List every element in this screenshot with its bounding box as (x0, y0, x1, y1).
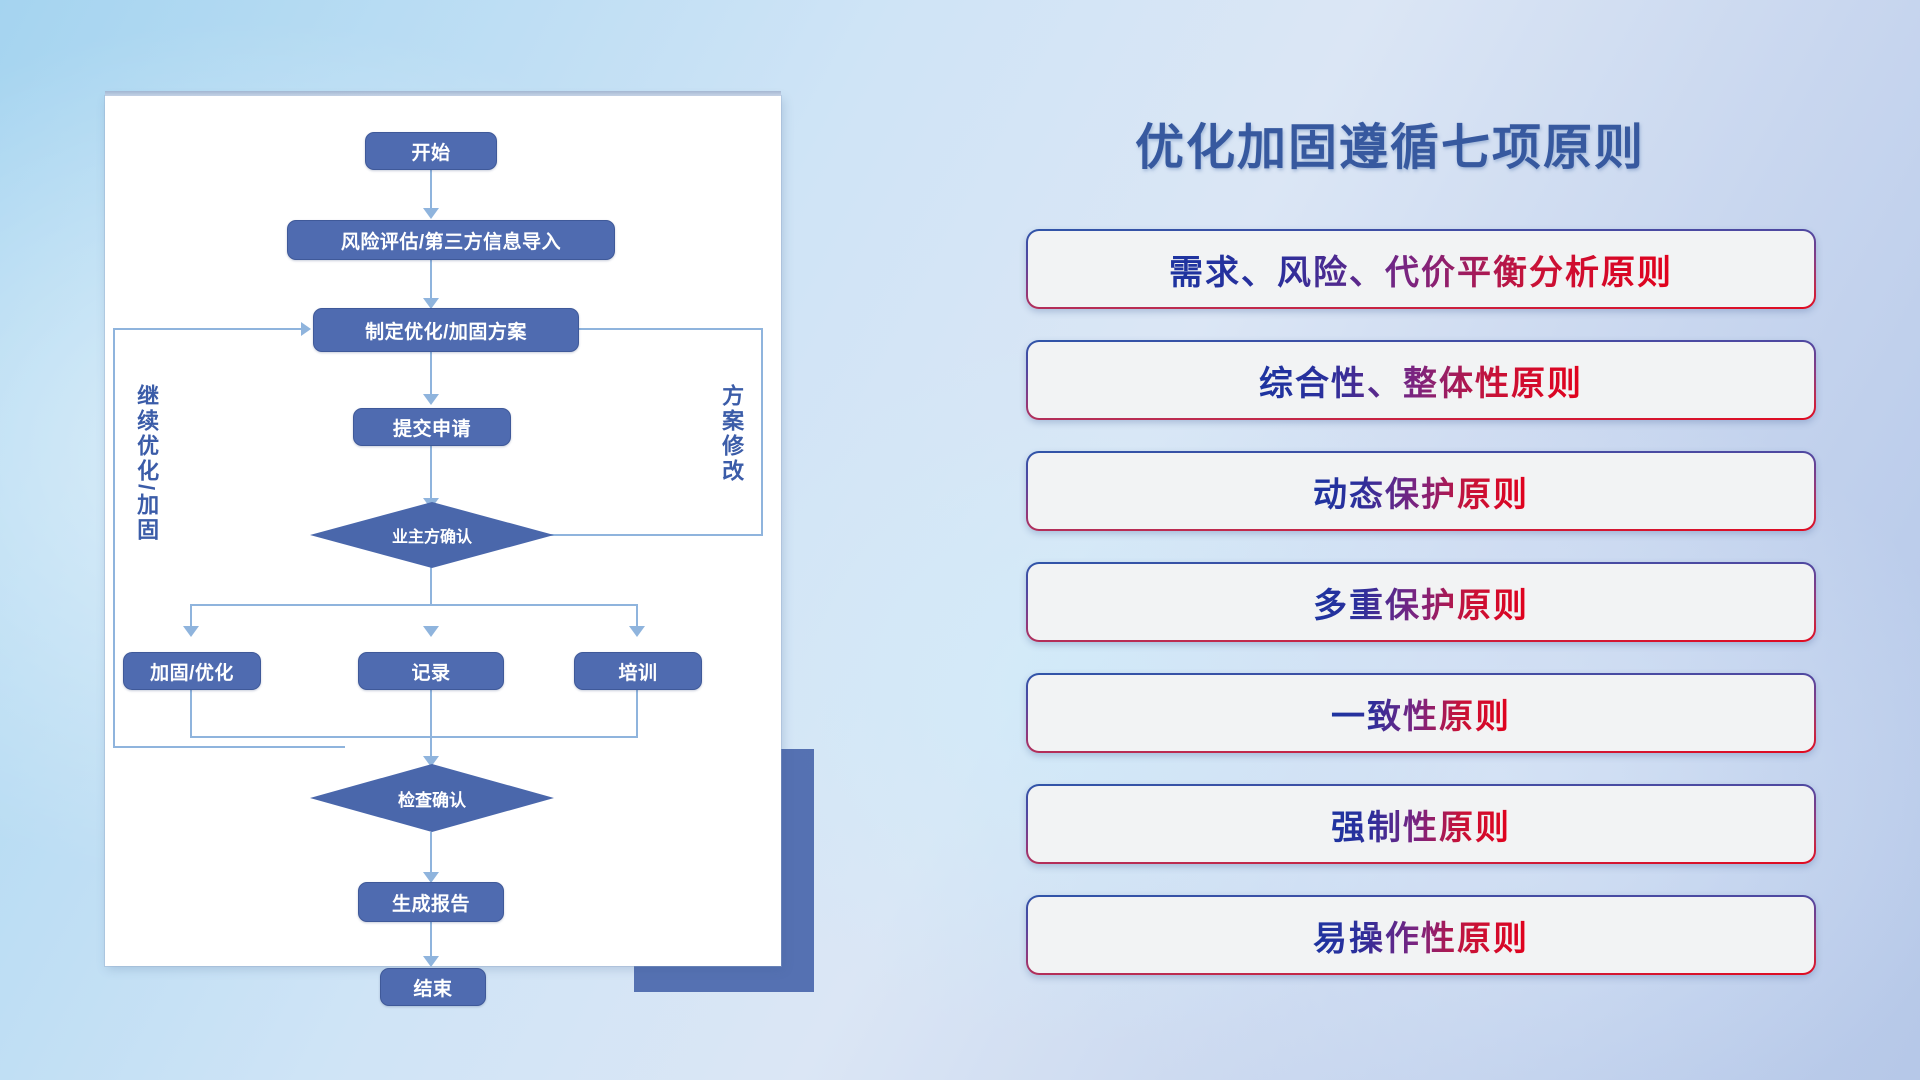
connector-risk-plan (430, 258, 432, 302)
principle-card-inner: 易操作性原则 (1028, 897, 1814, 973)
flow-node-start[interactable]: 开始 (365, 132, 497, 170)
flow-node-risk-assessment[interactable]: 风险评估/第三方信息导入 (287, 220, 615, 260)
principle-label: 动态保护原则 (1313, 467, 1529, 516)
principles-panel: 优化加固遵循七项原则 需求、风险、代价平衡分析原则 综合性、整体性原则 动态保护… (860, 0, 1920, 1080)
principle-label: 易操作性原则 (1313, 911, 1529, 960)
principle-card-inner: 多重保护原则 (1028, 564, 1814, 640)
principle-card[interactable]: 动态保护原则 (1026, 451, 1816, 531)
flow-node-label: 结束 (413, 974, 452, 1001)
connector-left-loop-bottom (113, 746, 345, 748)
connector-reinf-down (190, 690, 192, 738)
flow-node-label: 提交申请 (393, 414, 471, 441)
principle-label: 一致性原则 (1331, 689, 1511, 738)
flow-node-submit[interactable]: 提交申请 (353, 408, 511, 446)
flow-node-end[interactable]: 结束 (380, 968, 486, 1006)
principle-card[interactable]: 需求、风险、代价平衡分析原则 (1026, 229, 1816, 309)
arrowhead-train (629, 626, 645, 637)
principle-card[interactable]: 易操作性原则 (1026, 895, 1816, 975)
principle-label: 多重保护原则 (1313, 578, 1529, 627)
arrowhead-reinf (183, 626, 199, 637)
connector-right-loop-vertical (761, 328, 763, 536)
principle-label: 需求、风险、代价平衡分析原则 (1169, 245, 1673, 294)
arrowhead-plan-from-left (301, 322, 311, 336)
flow-edge-label-continue-optimize: 继续优化/加固 (135, 384, 158, 543)
connector-owner-down (430, 566, 432, 606)
principle-card-inner: 一致性原则 (1028, 675, 1814, 751)
connector-plan-submit (430, 350, 432, 398)
flowchart-panel: 开始 风险评估/第三方信息导入 制定优化/加固方案 提交申请 业主方确认 加固/… (0, 0, 860, 1080)
flow-node-label: 检查确认 (398, 786, 466, 811)
connector-start-risk (430, 168, 432, 212)
connector-fanout-top (190, 604, 638, 606)
principle-card[interactable]: 多重保护原则 (1026, 562, 1816, 642)
flow-node-label: 加固/优化 (150, 658, 234, 685)
flow-node-reinforce[interactable]: 加固/优化 (123, 652, 261, 690)
flow-node-label: 风险评估/第三方信息导入 (341, 227, 561, 254)
flow-node-label: 开始 (411, 138, 450, 165)
connector-train-down (636, 690, 638, 738)
flow-node-plan[interactable]: 制定优化/加固方案 (313, 308, 579, 352)
principle-card[interactable]: 综合性、整体性原则 (1026, 340, 1816, 420)
flow-node-label: 生成报告 (392, 889, 470, 916)
connector-left-loop-vertical (113, 328, 115, 748)
principle-card-inner: 需求、风险、代价平衡分析原则 (1028, 231, 1814, 307)
principle-label: 综合性、整体性原则 (1259, 356, 1583, 405)
principle-card[interactable]: 一致性原则 (1026, 673, 1816, 753)
flow-node-label: 记录 (411, 658, 450, 685)
principle-label: 强制性原则 (1331, 800, 1511, 849)
flow-node-label: 培训 (618, 658, 657, 685)
flow-node-label: 制定优化/加固方案 (365, 317, 527, 344)
connector-right-loop-bottom (535, 534, 763, 536)
flow-node-generate-report[interactable]: 生成报告 (358, 882, 504, 922)
principle-card[interactable]: 强制性原则 (1026, 784, 1816, 864)
principles-list: 需求、风险、代价平衡分析原则 综合性、整体性原则 动态保护原则 多重保护原则 一… (1026, 229, 1816, 1006)
connector-fanin-bottom (190, 736, 638, 738)
connector-report-end (430, 922, 432, 960)
connector-record-check (430, 690, 432, 764)
flowchart-canvas: 开始 风险评估/第三方信息导入 制定优化/加固方案 提交申请 业主方确认 加固/… (105, 96, 781, 966)
flow-decision-check-confirm[interactable]: 检查确认 (310, 764, 554, 832)
principle-card-inner: 综合性、整体性原则 (1028, 342, 1814, 418)
connector-submit-owner (430, 446, 432, 502)
arrowhead-risk (423, 208, 439, 219)
panel-title: 优化加固遵循七项原则 (860, 108, 1920, 179)
arrowhead-end (423, 956, 439, 967)
connector-check-report (430, 832, 432, 876)
principle-card-inner: 强制性原则 (1028, 786, 1814, 862)
flow-node-training[interactable]: 培训 (574, 652, 702, 690)
arrowhead-record (423, 626, 439, 637)
flow-decision-owner-confirm[interactable]: 业主方确认 (310, 502, 554, 568)
flow-node-label: 业主方确认 (392, 523, 472, 547)
principle-card-inner: 动态保护原则 (1028, 453, 1814, 529)
connector-right-loop-top (573, 328, 763, 330)
flow-node-record[interactable]: 记录 (358, 652, 504, 690)
arrowhead-submit (423, 394, 439, 405)
flow-edge-label-plan-revision: 方案修改 (720, 384, 743, 484)
connector-left-loop-top (113, 328, 305, 330)
